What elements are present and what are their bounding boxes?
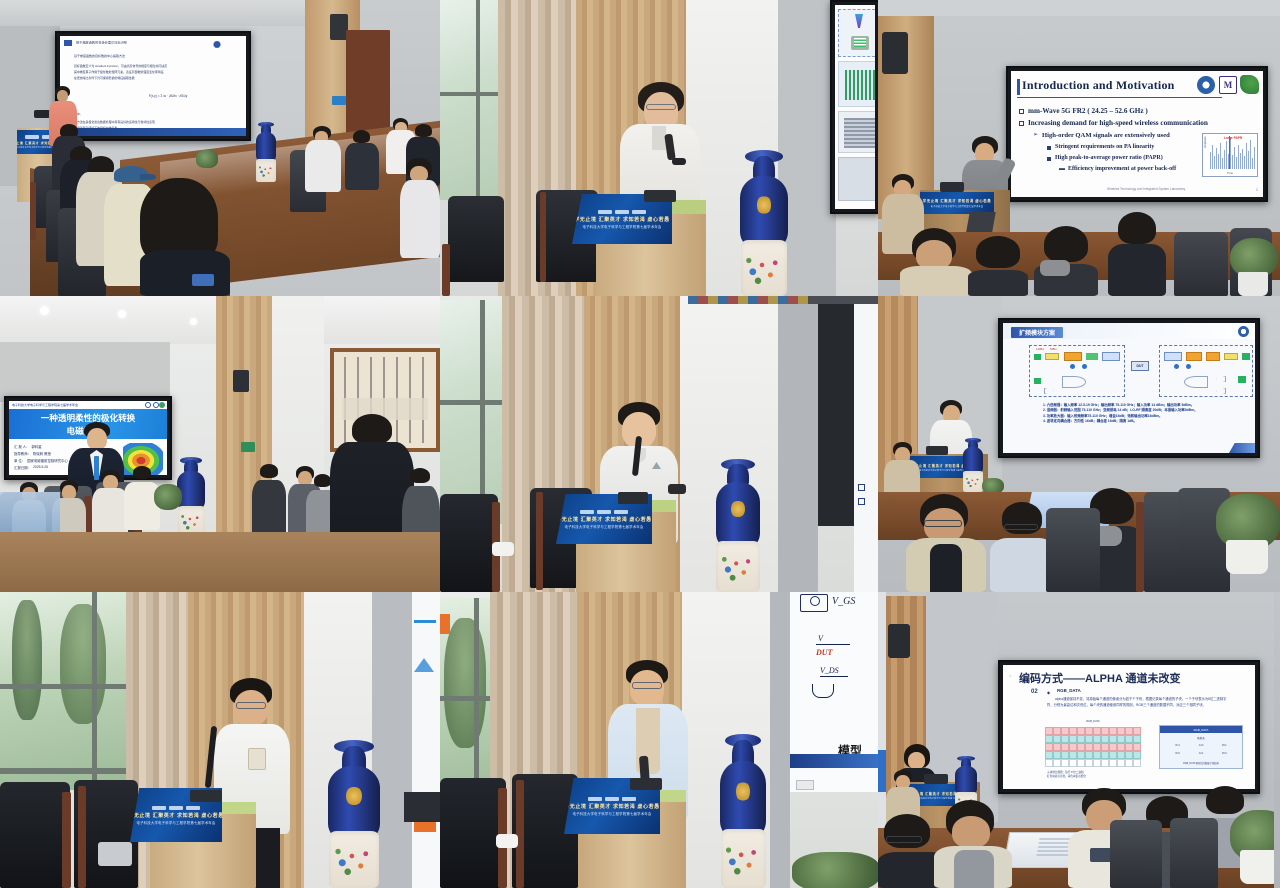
speaker-box-icon: [882, 32, 908, 74]
matrix-grid: [1045, 727, 1141, 767]
tree-foliage: [12, 600, 42, 720]
screen-graphic: [414, 658, 434, 672]
slide-formula: F(x,y) = Σ wᵢ · ∂S/∂x · ∂S/∂y: [118, 94, 218, 98]
title-accent-bar: [1017, 79, 1020, 95]
field-value: 2025.5.26: [33, 465, 48, 470]
node-junction: [1082, 364, 1087, 369]
podium-logos: [152, 806, 200, 810]
chair: [1170, 818, 1218, 888]
chair: [1046, 508, 1100, 592]
mapping-footnote: RGB_DATA 映射后的数据子块结构: [1164, 761, 1238, 765]
mapping-row: R=0G=1B=0: [1166, 752, 1236, 755]
ceiling-light: [40, 306, 49, 315]
podium-logos: [598, 210, 646, 214]
mapping-table-header: RGB_DATA: [1160, 726, 1242, 733]
block-mixer: [1086, 353, 1098, 360]
audience-member-foreground: [140, 178, 230, 296]
window-sill: [0, 768, 132, 774]
projection-screen-frame: Introduction and Motivation M mm-Wave 5G…: [1006, 66, 1268, 202]
chair-frame: [1136, 502, 1144, 592]
window: [440, 300, 506, 524]
plant-pot: [1226, 540, 1268, 574]
plant-pot: [1238, 272, 1268, 296]
array-pattern: [844, 118, 875, 148]
section-label: RGB_DATA: [1057, 688, 1081, 693]
subsubsub-row-1: ▬ Efficiency improvement at power back-o…: [1059, 166, 1176, 172]
exit-sign-icon: [241, 442, 255, 452]
subbullet-text: High-order QAM signals are extensively u…: [1042, 132, 1170, 139]
chair: [1174, 232, 1228, 296]
collage-cell-middle-left: 电子科技大学电子科学与工程学院第七届学术年会 一种透明柔性的极化转换 电磁散射体…: [0, 296, 440, 592]
podium-monitor: [926, 446, 948, 455]
subsub-text: Stringent requirements on PA linearity: [1055, 144, 1154, 150]
section-number: 02: [1031, 689, 1038, 695]
collage-cell-top-left: 基于梯度函数的多极化雷达目标识别 基于梯度函数的目标散射中心提取方法 目标函数定…: [0, 0, 440, 296]
eyeglasses-icon: [646, 104, 676, 110]
side-display-frame: [830, 0, 878, 214]
laptop-screen: [0, 492, 60, 532]
square-bullet-icon: [1019, 109, 1024, 114]
block-multiplier: [1064, 352, 1082, 361]
window-frame-rail: [440, 92, 500, 96]
presenter-head: [908, 752, 925, 769]
collage-cell-bottom-left: 学无止境 汇聚英才 求知若渴 虚心若愚 电子科技大学电子科学与工程学院第七届学术…: [0, 592, 440, 888]
audience-torso: [305, 140, 341, 192]
projection-screen-frame: 扩频模块方案 14dBm 5dBm: [998, 318, 1260, 458]
display-bezel: [818, 296, 854, 526]
podium-banner-line2: 电子科技大学电子科学与工程学院第七届学术年会: [573, 811, 652, 816]
podium-banner-line2: 电子科技大学电子科学与工程学院第七届学术年会: [137, 820, 216, 825]
audience-member-foreground: [900, 228, 972, 296]
chair-frame: [62, 792, 71, 888]
audience-member-foreground: [968, 236, 1028, 296]
audience-hair: [314, 474, 331, 487]
podium-banner-line2: 电子科技大学电子科学与工程学院第七届学术年会: [565, 524, 644, 529]
block-lo-amp: [1034, 378, 1041, 384]
block-amp-triangle: [1216, 388, 1226, 394]
papr-chart: Large PAPR Amplitude Time: [1202, 133, 1258, 177]
subsub-text: High peak-to-average power ratio (PAPR): [1055, 155, 1163, 161]
screen-control-button[interactable]: [796, 780, 814, 790]
podium-monitor: [630, 778, 662, 790]
ieee-logo: [1240, 75, 1259, 94]
podium-banner-line1: 学无止境 汇聚英才 求知若渴 虚心若愚: [564, 803, 660, 810]
audience-hair: [1044, 226, 1088, 262]
wall-accent: [440, 614, 450, 634]
collage-cell-middle-center: 学无止境 汇聚英才 求知若渴 虚心若愚 电子科技大学电子科学与工程学院第七届学术…: [440, 296, 878, 592]
chair-frame: [30, 182, 36, 240]
podium-banner-line1: 学无止境 汇聚英才 求知若渴 虚心若愚: [556, 516, 652, 523]
window-frame-rail: [440, 696, 492, 701]
slide-field-row: 指导教师： 陈晓莉 教授: [14, 451, 51, 456]
chair: [1110, 820, 1162, 888]
potted-plant: [792, 852, 878, 888]
eyeglasses-icon: [886, 836, 922, 843]
note-line-4: 4. 波导定向耦合器：方向性 16dB；耦合度 16dB；隔离 1dB。: [1043, 419, 1243, 424]
dash-bullet-icon: ▬: [1059, 166, 1065, 172]
podium-banner-line1: 学无止境 汇聚英才 求知若渴 虚心若愚: [923, 198, 991, 203]
chair-leg: [442, 244, 450, 296]
circuit-ground-icon: [812, 684, 834, 698]
podium-monitor: [924, 774, 948, 784]
decorative-vase: [738, 156, 790, 296]
potted-plant: [154, 484, 182, 510]
phone: [192, 274, 214, 286]
tissue: [492, 542, 514, 556]
mapping-row: R=1G=0B=1: [1166, 744, 1236, 747]
projection-screen: 基于梯度函数的多极化雷达目标识别 基于梯度函数的目标散射中心提取方法 目标函数定…: [60, 36, 246, 136]
slide-header: 电子科技大学电子科学与工程学院第七届学术年会: [12, 403, 78, 407]
slide-line-3: 其中梯度算子作用于极化散射矩阵元素，表征局部散射强度变化率特征: [74, 70, 244, 74]
slide-footer-bar: [790, 754, 878, 768]
adjacent-screen: [412, 592, 440, 888]
slide-title: Introduction and Motivation: [1022, 78, 1175, 93]
subsub-row-1: Stringent requirements on PA linearity: [1047, 144, 1154, 150]
speaker-box-icon: [888, 624, 910, 658]
podium-monitor: [190, 790, 222, 802]
papr-plot-area: [1209, 136, 1255, 169]
ceiling-light: [190, 318, 197, 325]
eyeglasses-icon: [1004, 524, 1038, 530]
bullet-row-2: Increasing demand for high-speed wireles…: [1019, 119, 1208, 127]
square-bullet-icon: [1019, 121, 1024, 126]
wall-far-right: [1274, 592, 1280, 888]
slide-header-line: 基于梯度函数的多极化雷达目标识别: [76, 40, 196, 44]
slide-field-row: 汇报日期： 2025.5.26: [14, 465, 48, 470]
subsub-row-2: High peak-to-average power ratio (PAPR): [1047, 155, 1163, 161]
wristwatch: [672, 158, 686, 165]
audience-hair: [410, 468, 430, 483]
arrow-bullet-icon: ➢: [1033, 132, 1038, 138]
projection-screen: Introduction and Motivation M mm-Wave 5G…: [1011, 71, 1263, 197]
slide-line-2: 目标函数定义为 Gradient Function，可由高阶信号的幅度与相位共同…: [74, 64, 244, 68]
block-multiplier: [1186, 352, 1202, 361]
circuit-label-vds-top: V: [818, 634, 823, 643]
papr-annotation: Large PAPR: [1224, 137, 1242, 141]
tree-foliage: [60, 604, 106, 724]
filled-square-bullet-icon: [1047, 157, 1051, 161]
audience-member: [252, 464, 286, 540]
collage-cell-bottom-center: V_GS V DUT V_DS 模型: [440, 592, 878, 888]
eyeglasses-icon: [924, 520, 962, 527]
window-frame-mullion: [480, 300, 485, 524]
potted-plant: [196, 150, 218, 168]
audience-hair: [353, 130, 370, 143]
screen-line: [414, 620, 436, 623]
collage-cell-middle-right: 扩频模块方案 14dBm 5dBm: [878, 296, 1280, 592]
audience-torso: [1108, 244, 1166, 296]
slide-title: 编码方式——ALPHA 通道未改变: [1019, 670, 1181, 686]
audience-hair: [976, 236, 1020, 268]
panel-micrograph: [838, 111, 875, 153]
audience-hair: [1206, 786, 1244, 814]
ceiling-edge: [878, 0, 1280, 16]
block-amplifier: [1242, 353, 1250, 360]
bullet-square-icon: [858, 484, 865, 491]
circuit-slide: V_GS V DUT V_DS 模型: [788, 592, 878, 792]
bullet-row-1: mm-Wave 5G FR2 ( 24.25 – 52.6 GHz ): [1019, 107, 1148, 115]
slide-field-row: 单 位： 国家电磁辐射控制研究中心: [14, 458, 68, 463]
collage-cell-top-right: Introduction and Motivation M mm-Wave 5G…: [878, 0, 1280, 296]
decorative-vase: [962, 440, 984, 492]
audience-member-foreground: [906, 494, 986, 592]
slide-line-4: 在低信噪比条件下仍可保持稳健的特征提取性能: [74, 76, 224, 80]
diagram-label-gain: 14dBm: [1036, 348, 1044, 351]
side-display: [835, 5, 875, 209]
podium-banner-line2: 电子科技大学电子科学与工程学院第七届学术年会: [583, 224, 662, 229]
slide-line-1: 基于梯度函数的目标散射中心提取方法: [74, 54, 174, 58]
diagram-label-loss: 5dBm: [1050, 348, 1057, 351]
window-frame-rail: [440, 400, 506, 405]
audience-head: [952, 816, 990, 848]
projection-screen-frame: ○ 编码方式——ALPHA 通道未改变 02 ◆ RGB_DATA alpha通…: [998, 660, 1260, 794]
circuit-label-vds: V_DS: [820, 666, 839, 675]
papr-marker-line: [1229, 136, 1230, 169]
eyeglasses-icon: [632, 682, 662, 689]
circuit-rule: [820, 676, 848, 677]
podium-logos: [588, 797, 636, 801]
audience-member: [345, 130, 379, 190]
block-dut: DUT: [1131, 361, 1149, 371]
chair: [448, 196, 504, 282]
audience-torso: [345, 143, 379, 190]
block-divider: [1184, 376, 1208, 388]
matrix-caption: RGB_DATA: [1045, 720, 1141, 723]
audience-hair: [133, 466, 151, 479]
chair: [440, 778, 506, 888]
wall-right: [778, 296, 818, 592]
slide-field-row: 汇 报 人： 郭科星: [14, 444, 42, 449]
collage-cell-top-center: 学无止境 汇聚英才 求知若渴 虚心若愚 电子科技大学电子科学与工程学院第七届学术…: [440, 0, 878, 296]
panel-schematic-nozzle: [838, 9, 875, 57]
university-logo: [212, 41, 242, 48]
adjacent-screen: [854, 296, 878, 592]
chair-frame: [540, 192, 546, 282]
panel-photo: [838, 157, 875, 201]
field-label: 指导教师：: [14, 451, 31, 456]
field-value: 陈晓莉 教授: [33, 451, 51, 456]
tissue: [496, 834, 518, 848]
audience-hair: [415, 124, 432, 137]
audience-member-foreground: [934, 800, 1012, 888]
slide-bullet-marker: [64, 40, 72, 46]
decorative-vase: [714, 464, 762, 592]
node-junction: [1070, 364, 1075, 369]
circuit-label-dut: DUT: [816, 648, 832, 657]
audience-torso: [400, 180, 440, 258]
chair: [0, 782, 70, 888]
bullet-text: mm-Wave 5G FR2 ( 24.25 – 52.6 GHz ): [1028, 107, 1148, 115]
matrix-note-line: 红色块表示高位，青色块表示低位: [1047, 775, 1135, 779]
speaker-box-icon: [233, 370, 249, 392]
circuit-label-vgs: V_GS: [832, 596, 855, 607]
nozzle-icon: [855, 14, 863, 28]
decorative-vase: [255, 124, 277, 182]
block-filter: [1224, 353, 1238, 360]
audience-torso: [900, 266, 972, 296]
slide-corner-accent: [1229, 443, 1255, 453]
pattern: [854, 38, 866, 47]
window-frame-rail: [0, 684, 132, 689]
field-label: 单 位：: [14, 458, 25, 463]
podium-monitor: [940, 182, 964, 192]
audience-member-foreground: [1034, 226, 1098, 296]
podium-monitor: [644, 190, 676, 202]
block-output: [1102, 352, 1120, 361]
bullet-text: Increasing demand for high-speed wireles…: [1028, 119, 1208, 127]
chair-frame: [78, 786, 86, 888]
node-junction: [1174, 364, 1179, 369]
audience-torso: [252, 480, 286, 540]
bullet-square-icon: [858, 498, 865, 505]
podium-monitor: [618, 492, 648, 504]
podium-banner-line2: 电子科技大学电子科学与工程学院第七届学术年会: [931, 204, 984, 208]
decorative-vase: [718, 740, 768, 888]
subsubsub-text: Efficiency improvement at power back-off: [1068, 166, 1176, 172]
logo-seal-icon: [145, 402, 151, 408]
wall-upper-band: [0, 342, 170, 402]
projection-screen: ○ 编码方式——ALPHA 通道未改变 02 ◆ RGB_DATA alpha通…: [1003, 665, 1255, 789]
slide-line-5: 其中：: [74, 112, 134, 116]
chair: [440, 494, 498, 592]
diagram-block-left: 14dBm 5dBm: [1029, 345, 1125, 397]
hoodie: [954, 850, 994, 888]
decorative-vase: [326, 746, 382, 888]
chair-frame: [536, 492, 543, 590]
mapping-table: RGB_DATA 映射表 R=1G=0B=1 R=0G=1B=0 RGB_DAT…: [1159, 725, 1243, 769]
collage-cell-bottom-right: ○ 编码方式——ALPHA 通道未改变 02 ◆ RGB_DATA alpha通…: [878, 592, 1280, 888]
node-junction: [1186, 364, 1191, 369]
micro-pattern: [845, 70, 875, 100]
audience-member-foreground: [1108, 212, 1166, 296]
audience-torso: [140, 250, 230, 296]
equipment-case: [98, 842, 132, 866]
block-mixer: [1206, 352, 1220, 361]
sweatshirt-graphic: [248, 748, 266, 770]
title-decoration: ○: [1009, 673, 1011, 678]
podium-banner: 学无止境 汇聚英才 求知若渴 虚心若愚 电子科技大学电子科学与工程学院第七届学术…: [920, 192, 994, 214]
slide-notes: 1. 六倍频器：输入频率 12.5-19 GHz；输出频率 75-110 GHz…: [1043, 403, 1243, 424]
pixel-matrix-table: RGB_DATA: [1045, 727, 1141, 767]
wall-right: [770, 592, 790, 888]
window: [440, 0, 500, 200]
slide-title: 扩频模块方案: [1011, 327, 1063, 338]
projection-screen: 扩频模块方案 14dBm 5dBm: [1003, 323, 1255, 453]
window-frame-mullion: [476, 0, 480, 200]
slide-line-6: 该方法在多极化雷达数据处理中具有良好的适用性与鲁棒性表现: [74, 120, 244, 124]
audience-hair: [1118, 212, 1156, 244]
wall-accent-strip: [878, 750, 886, 792]
field-label: 汇 报 人：: [14, 444, 29, 449]
block-amp-triangle: [1044, 388, 1054, 394]
mapping-table-subheader: 映射表: [1164, 736, 1238, 740]
window-frame-mullion: [92, 592, 97, 790]
standing-hair: [352, 414, 392, 444]
university-seal-logo: [1197, 76, 1215, 94]
block-amplifier: [1034, 354, 1041, 360]
podium-banner-line1: 学无止境 汇聚英才 求知若渴 虚心若愚: [574, 216, 670, 223]
door: [346, 30, 390, 135]
voltage-source-icon: [810, 596, 820, 606]
block-combiner: [1062, 376, 1086, 388]
field-value: 郭科星: [31, 444, 41, 449]
door-sign: [332, 96, 346, 105]
papr-ylabel: Amplitude: [1204, 136, 1207, 148]
scarf: [1040, 260, 1070, 276]
chair-frame: [516, 780, 524, 888]
block-input: [1164, 352, 1182, 361]
circuit-rule: [816, 644, 850, 645]
eyeglasses-icon: [236, 702, 266, 709]
slide-footer: Wireless Technology and Integrated Syste…: [1107, 187, 1185, 191]
window: [0, 592, 132, 790]
panel-cross-section: [838, 61, 875, 107]
presentation-clicker: [668, 484, 686, 494]
block-amplifier: [1238, 376, 1246, 383]
field-value: 国家电磁辐射控制研究中心: [27, 458, 68, 463]
slide-footer-bar: [60, 128, 246, 136]
field-label: 汇报日期：: [14, 465, 31, 470]
section-bullet-icon: ◆: [1047, 690, 1050, 695]
block-filter: [1045, 353, 1059, 360]
display-bezel: [404, 792, 440, 822]
podium-logos: [580, 510, 628, 514]
background-screen-strip: [688, 296, 808, 304]
audience-member: [305, 126, 341, 192]
slide-page-number: 2: [1256, 187, 1258, 192]
papr-xlabel: Time: [1227, 171, 1233, 175]
filled-square-bullet-icon: [1047, 146, 1051, 150]
mtt-society-logo: M: [1219, 76, 1237, 94]
presenter-head: [87, 428, 107, 450]
audience-hair: [260, 464, 278, 478]
ceiling-light: [118, 310, 126, 318]
diagram-block-right: [1159, 345, 1253, 397]
slide-header-band: 电子科技大学电子科学与工程学院第七届学术年会: [9, 401, 167, 409]
matrix-note: 子块划分规则：每行 8 位二进制 红色块表示高位，青色块表示低位: [1047, 771, 1135, 779]
slide-body: alpha通道保持不变，将原始每个通道的像素分为若干个子块，根据记录每个通道的子…: [1047, 697, 1227, 708]
audience-torso: [968, 270, 1028, 296]
logo-green-icon: [159, 402, 165, 408]
podium-banner-line1: 学无止境 汇聚英才 求知若渴 虚心若愚: [130, 812, 222, 819]
floor: [0, 532, 440, 592]
subbullet-row-1: ➢ High-order QAM signals are extensively…: [1033, 132, 1170, 139]
title-underline: [1017, 97, 1222, 98]
vest: [930, 544, 962, 592]
block-amp-triangle: [1216, 376, 1226, 382]
audience-member-foreground: [400, 158, 440, 258]
university-seal-logo: [1238, 326, 1249, 337]
photo-collage-grid: 基于梯度函数的多极化雷达目标识别 基于梯度函数的目标散射中心提取方法 目标函数定…: [0, 0, 1280, 888]
tree-foliage: [444, 618, 486, 748]
